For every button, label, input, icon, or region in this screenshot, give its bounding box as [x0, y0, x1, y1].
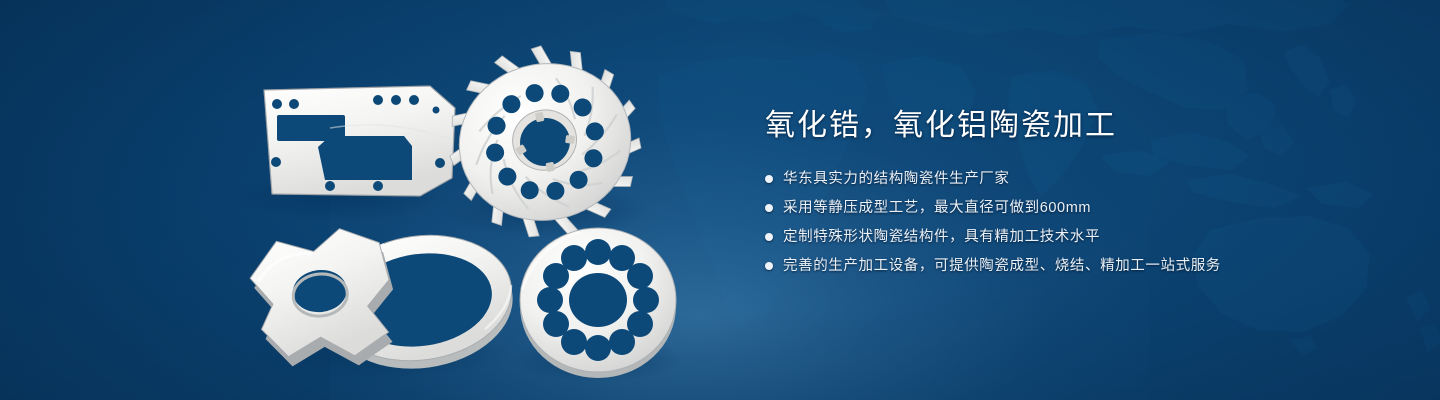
ceramic-perforated-disc-image	[520, 228, 676, 378]
list-item: 定制特殊形状陶瓷结构件，具有精加工技术水平	[765, 226, 1385, 248]
banner-copy: 氧化锆，氧化铝陶瓷加工 华东具实力的结构陶瓷件生产厂家 采用等静压成型工艺，最大…	[765, 106, 1385, 284]
list-item-label: 华东具实力的结构陶瓷件生产厂家	[783, 168, 1010, 190]
list-item: 完善的生产加工设备，可提供陶瓷成型、烧结、精加工一站式服务	[765, 255, 1385, 277]
list-item-label: 完善的生产加工设备，可提供陶瓷成型、烧结、精加工一站式服务	[783, 255, 1221, 277]
list-item: 采用等静压成型工艺，最大直径可做到600mm	[765, 197, 1385, 219]
bullet-dot-icon	[765, 233, 773, 241]
list-item-label: 定制特殊形状陶瓷结构件，具有精加工技术水平	[783, 226, 1100, 248]
ceramic-mounting-plate-image	[264, 86, 455, 196]
bullet-dot-icon	[765, 262, 773, 270]
page-title: 氧化锆，氧化铝陶瓷加工	[765, 106, 1385, 146]
hero-banner: 氧化锆，氧化铝陶瓷加工 华东具实力的结构陶瓷件生产厂家 采用等静压成型工艺，最大…	[0, 0, 1440, 400]
bullet-dot-icon	[765, 204, 773, 212]
feature-list: 华东具实力的结构陶瓷件生产厂家 采用等静压成型工艺，最大直径可做到600mm 定…	[765, 168, 1385, 277]
list-item-label: 采用等静压成型工艺，最大直径可做到600mm	[783, 197, 1091, 219]
bullet-dot-icon	[765, 175, 773, 183]
list-item: 华东具实力的结构陶瓷件生产厂家	[765, 168, 1385, 190]
product-photo-collage	[0, 0, 720, 400]
